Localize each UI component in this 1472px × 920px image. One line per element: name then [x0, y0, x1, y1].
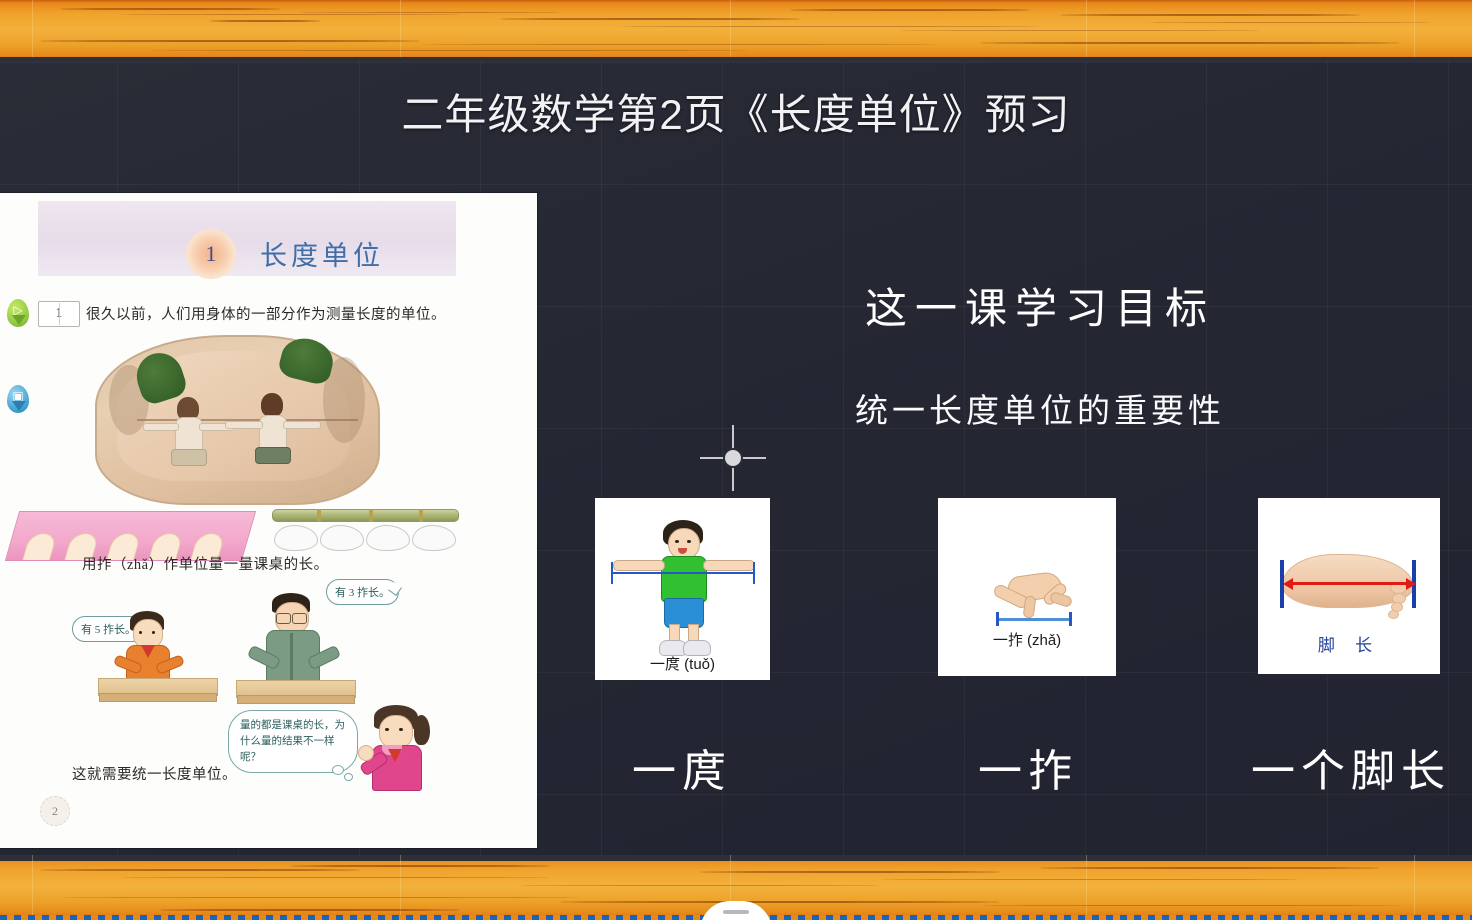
crosshair-handle[interactable]	[700, 425, 766, 491]
unit-header-band: 1 长度单位	[38, 201, 456, 276]
finger-rest	[1049, 591, 1073, 608]
foot-arrow-head-left	[1283, 578, 1293, 590]
finger-middle	[1023, 595, 1037, 618]
card-foot[interactable]: 脚 长	[1258, 498, 1440, 674]
toe-4	[1388, 610, 1399, 619]
textbook-activity-text: 用拃（zhǎ）作单位量一量课桌的长。	[82, 553, 329, 574]
cave-illustration	[95, 335, 380, 505]
measure-line-zha	[996, 618, 1072, 621]
boy-arm-right	[703, 560, 755, 571]
textbook-intro-text: 很久以前，人们用身体的一部分作为测量长度的单位。	[86, 303, 446, 324]
card-zha[interactable]: 一拃 (zhǎ)	[938, 498, 1116, 676]
thought-dot-1	[332, 765, 344, 775]
measure-end-left-zha	[996, 612, 999, 626]
foot-arrow-line	[1286, 582, 1410, 585]
card-caption-foot: 脚 长	[1258, 631, 1440, 656]
boy2-eye-l	[139, 631, 142, 634]
textbook-page-number: 2	[40, 796, 70, 826]
boy-shirt	[661, 556, 707, 602]
textbook-conclusion-text: 这就需要统一长度单位。	[72, 763, 237, 784]
boy-eye-right	[687, 540, 691, 543]
measure-line-tuo	[611, 572, 755, 574]
girl-hand	[358, 745, 374, 761]
foot-arrow-head-right	[1406, 578, 1416, 590]
measure-end-left	[611, 562, 613, 584]
boy2-scarf	[141, 645, 155, 658]
drag-grip-icon	[723, 910, 749, 914]
big-label-foot: 一个脚长	[1244, 735, 1458, 799]
wood-banner-top	[0, 0, 1472, 62]
unit-number-badge: 1	[188, 231, 234, 277]
girl-eye-r	[399, 728, 403, 731]
page-title: 二年级数学第2页《长度单位》预习	[0, 92, 1472, 138]
boy-eye-left	[675, 540, 679, 543]
speech-bubble-right: 有 3 拃长。	[326, 579, 399, 605]
adult-glasses-r	[292, 613, 307, 624]
bamboo-pole-illustration	[272, 509, 459, 522]
big-label-zha: 一拃	[928, 735, 1128, 799]
goal-subtitle: 统一长度单位的重要性	[780, 384, 1300, 432]
boy-arm-left	[613, 560, 665, 571]
goal-heading: 这一课学习目标	[780, 275, 1300, 336]
caveman-right-arm-l	[225, 421, 263, 429]
caveman-left-skirt	[171, 449, 207, 466]
caveman-left-arm-l	[143, 423, 179, 431]
footprint-2	[320, 525, 364, 551]
girl-head	[379, 715, 413, 749]
caveman-right-arm-r	[283, 421, 321, 429]
caveman-left-body	[175, 417, 203, 453]
item-number-box: 1	[38, 301, 80, 327]
desk-right	[236, 680, 356, 698]
footprint-4	[412, 525, 456, 551]
caveman-right-head	[261, 393, 283, 417]
card-caption-tuo: 一庹 (tuǒ)	[595, 653, 770, 674]
measure-end-right-zha	[1069, 612, 1072, 626]
girl-eye-l	[385, 728, 389, 731]
crosshair-center-dot[interactable]	[725, 450, 741, 466]
card-caption-zha: 一拃 (zhǎ)	[938, 629, 1116, 650]
big-label-tuo: 一庹	[582, 735, 782, 799]
green-pin-tail	[12, 315, 26, 325]
unit-title: 长度单位	[260, 234, 384, 273]
thought-bubble: 量的都是课桌的长，为什么量的结果不一样呢？	[228, 710, 358, 773]
thought-dot-2	[344, 773, 353, 781]
footprint-1	[274, 525, 318, 551]
slide-stage: 二年级数学第2页《长度单位》预习 这一课学习目标 统一长度单位的重要性 一庹 (…	[0, 0, 1472, 920]
adult-glasses-l	[276, 613, 291, 624]
card-tuo[interactable]: 一庹 (tuǒ)	[595, 498, 770, 680]
caveman-right-body	[259, 415, 287, 451]
girl-scarf	[388, 749, 402, 762]
footprint-3	[366, 525, 410, 551]
boy2-eye-r	[152, 631, 155, 634]
textbook-page-image[interactable]: 1 长度单位 ▷ ▣ 1 很久以前，人们用身体的一部分作为测量长度的单位。	[0, 193, 537, 848]
caveman-right-skirt	[255, 447, 291, 464]
adult-shirt-placket	[290, 633, 293, 685]
measure-end-right	[753, 562, 755, 584]
girl-ponytail	[414, 715, 430, 745]
blue-pin-tail	[12, 401, 26, 411]
desk-left	[98, 678, 218, 696]
